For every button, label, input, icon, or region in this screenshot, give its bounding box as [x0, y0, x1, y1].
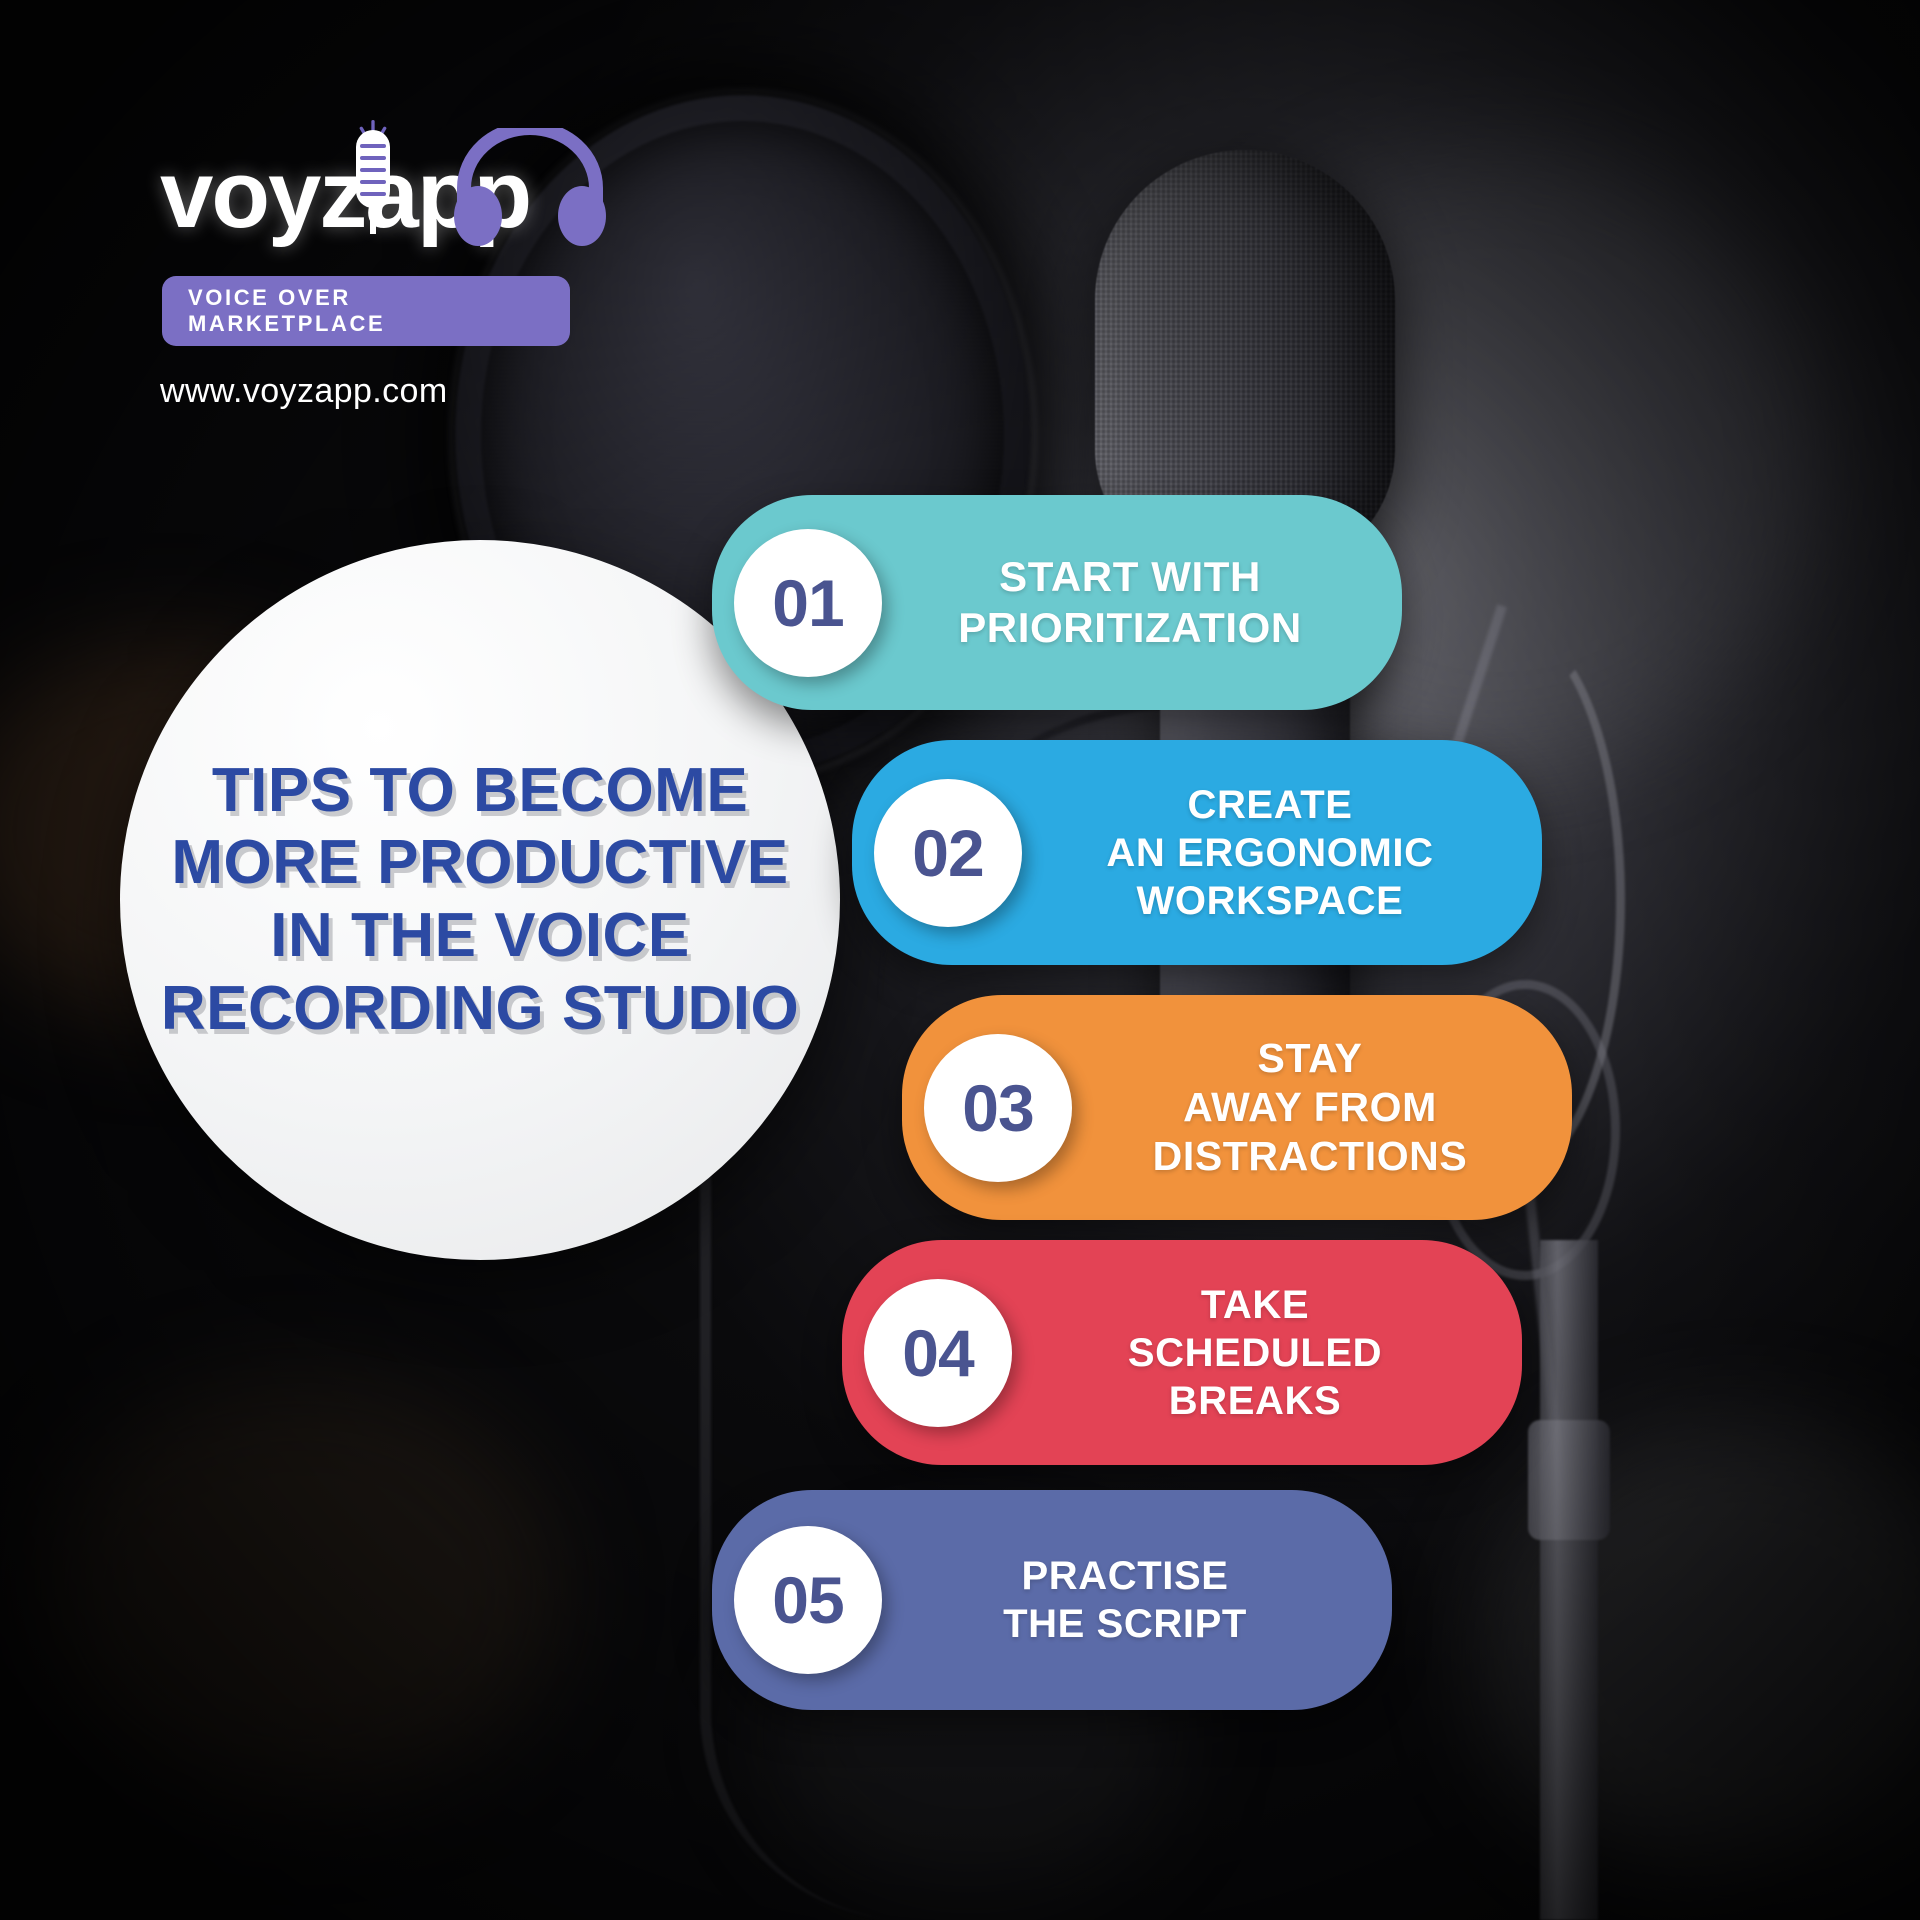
- tip-number-badge: 04: [864, 1279, 1012, 1427]
- tip-label: CREATE AN ERGONOMIC WORKSPACE: [1022, 781, 1542, 925]
- tip-label: TAKE SCHEDULED BREAKS: [1012, 1281, 1522, 1425]
- tip-number-badge: 01: [734, 529, 882, 677]
- tip-label: STAY AWAY FROM DISTRACTIONS: [1072, 1034, 1572, 1182]
- tip-item-01[interactable]: 01 START WITH PRIORITIZATION: [712, 495, 1402, 710]
- tip-label: START WITH PRIORITIZATION: [882, 552, 1402, 653]
- logo-mark: voyzapp: [150, 120, 570, 270]
- brand-logo[interactable]: voyzapp VOICE OVE: [150, 120, 570, 411]
- microphone-icon: [346, 126, 400, 238]
- tips-list: 01 START WITH PRIORITIZATION 02 CREATE A…: [700, 0, 1920, 1920]
- tip-item-05[interactable]: 05 PRACTISE THE SCRIPT: [712, 1490, 1392, 1710]
- tip-item-03[interactable]: 03 STAY AWAY FROM DISTRACTIONS: [902, 995, 1572, 1220]
- logo-tagline: VOICE OVER MARKETPLACE: [162, 276, 570, 346]
- headphones-icon: [450, 128, 610, 246]
- website-url[interactable]: www.voyzapp.com: [160, 372, 570, 411]
- tip-item-04[interactable]: 04 TAKE SCHEDULED BREAKS: [842, 1240, 1522, 1465]
- tip-item-02[interactable]: 02 CREATE AN ERGONOMIC WORKSPACE: [852, 740, 1542, 965]
- tip-number-badge: 02: [874, 779, 1022, 927]
- tip-number-badge: 05: [734, 1526, 882, 1674]
- tip-number-badge: 03: [924, 1034, 1072, 1182]
- tip-label: PRACTISE THE SCRIPT: [882, 1552, 1392, 1648]
